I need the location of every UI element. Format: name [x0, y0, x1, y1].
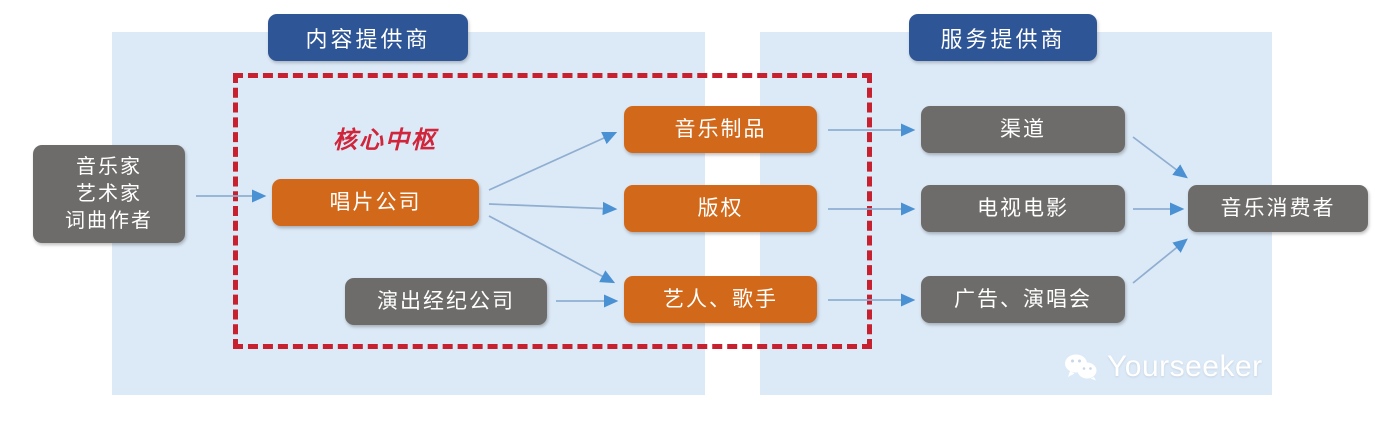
core-hub-label: 核心中枢	[333, 120, 437, 155]
node-artist-singer[interactable]: 艺人、歌手	[624, 276, 817, 323]
header-service-provider[interactable]: 服务提供商	[909, 14, 1097, 61]
edge-record-to-product	[489, 133, 615, 190]
node-channel-label: 渠道	[1000, 118, 1046, 142]
wechat-icon	[1064, 353, 1098, 381]
node-music-product[interactable]: 音乐制品	[624, 106, 817, 153]
edge-record-to-copyright	[489, 204, 615, 209]
watermark-text: Yourseeker	[1107, 350, 1263, 384]
node-channel[interactable]: 渠道	[921, 106, 1125, 153]
header-service-provider-label: 服务提供商	[940, 22, 1065, 54]
node-agency[interactable]: 演出经纪公司	[345, 278, 547, 325]
node-artists-line1: 音乐家	[76, 154, 142, 181]
watermark: Yourseeker	[1064, 350, 1263, 384]
node-agency-label: 演出经纪公司	[377, 290, 515, 314]
node-copyright[interactable]: 版权	[624, 185, 817, 232]
node-ad-concert-label: 广告、演唱会	[954, 288, 1092, 312]
node-consumer[interactable]: 音乐消费者	[1188, 185, 1368, 232]
node-artists-line2: 艺术家	[76, 181, 142, 208]
header-content-provider-label: 内容提供商	[305, 22, 430, 54]
node-artist-singer-label: 艺人、歌手	[663, 288, 778, 312]
node-tv-film-label: 电视电影	[977, 197, 1069, 221]
edge-adconcert-to-consumer	[1133, 240, 1186, 283]
node-record-company-label: 唱片公司	[330, 191, 422, 215]
edge-channel-to-consumer	[1133, 137, 1186, 177]
diagram-canvas: 内容提供商 服务提供商 核心中枢 音乐家 艺术家 词曲作者 唱片公司 演出经纪公…	[0, 0, 1397, 427]
node-copyright-label: 版权	[698, 197, 744, 221]
node-consumer-label: 音乐消费者	[1221, 197, 1336, 221]
node-ad-concert[interactable]: 广告、演唱会	[921, 276, 1125, 323]
header-content-provider[interactable]: 内容提供商	[268, 14, 468, 61]
node-tv-film[interactable]: 电视电影	[921, 185, 1125, 232]
node-artists-line3: 词曲作者	[65, 208, 153, 235]
edge-record-to-artist	[489, 216, 613, 282]
node-record-company[interactable]: 唱片公司	[272, 179, 479, 226]
node-music-product-label: 音乐制品	[675, 118, 767, 142]
node-artists[interactable]: 音乐家 艺术家 词曲作者	[33, 145, 185, 243]
